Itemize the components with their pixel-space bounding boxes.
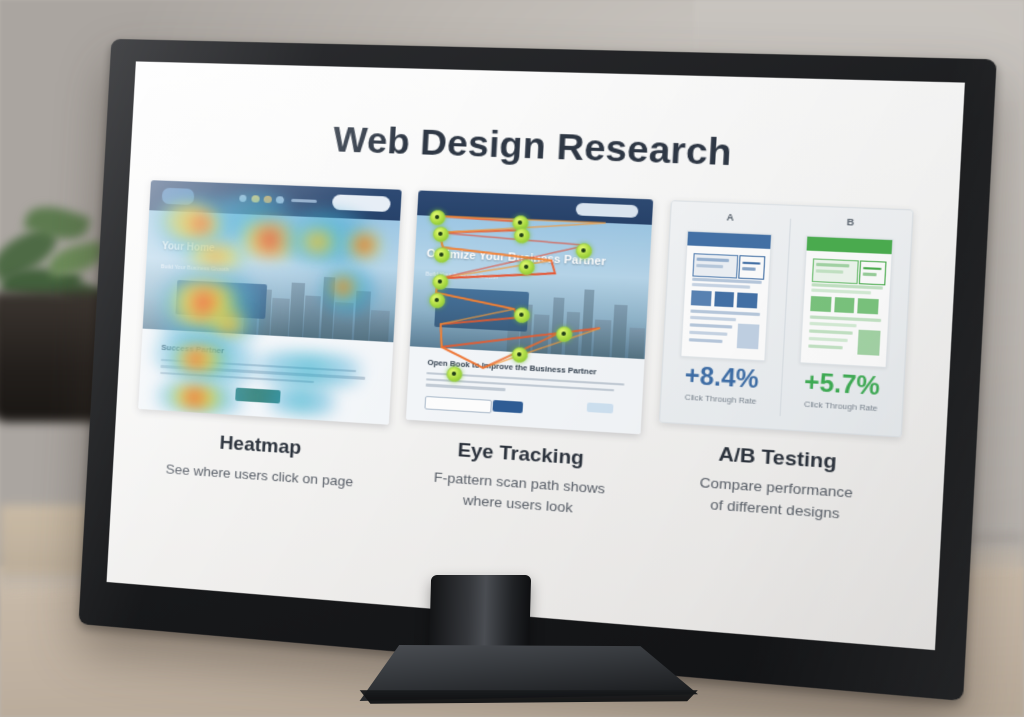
card-ab-testing[interactable]: A [659,200,914,437]
ab-comparison-panel: A [659,200,914,437]
page-title: Web Design Research [131,113,962,182]
ab-wireframe-a [680,231,772,361]
ab-metric-b: +5.7% [781,366,904,402]
eye-tracking-visual[interactable]: Optimize Your Business Partner Build You… [406,190,653,434]
monitor-bezel: Web Design Research [78,39,996,701]
ab-metric-a: +8.4% [662,360,782,395]
heatmap-overlay [138,180,402,425]
ab-variant-a[interactable]: A [660,201,791,429]
photo-scene: Web Design Research [0,0,1024,717]
card-eye-tracking[interactable]: Optimize Your Business Partner Build You… [406,190,653,434]
heatmap-visual[interactable]: Your Home Build Your Business Growth Suc… [138,180,402,425]
monitor: Web Design Research [95,38,925,638]
ab-variant-b-label: B [790,215,912,231]
ab-variant-a-label: A [671,210,790,225]
ab-wireframe-b [799,235,893,367]
ab-variant-b[interactable]: B [779,206,913,437]
wireframe-header [806,237,892,254]
card-heatmap[interactable]: Your Home Build Your Business Growth Suc… [138,180,402,425]
monitor-screen[interactable]: Web Design Research [107,61,965,650]
ab-testing-visual[interactable]: A [659,200,914,437]
card-row: Your Home Build Your Business Growth Suc… [151,180,932,210]
wireframe-header [687,232,771,249]
presentation-slide: Web Design Research [107,61,965,650]
